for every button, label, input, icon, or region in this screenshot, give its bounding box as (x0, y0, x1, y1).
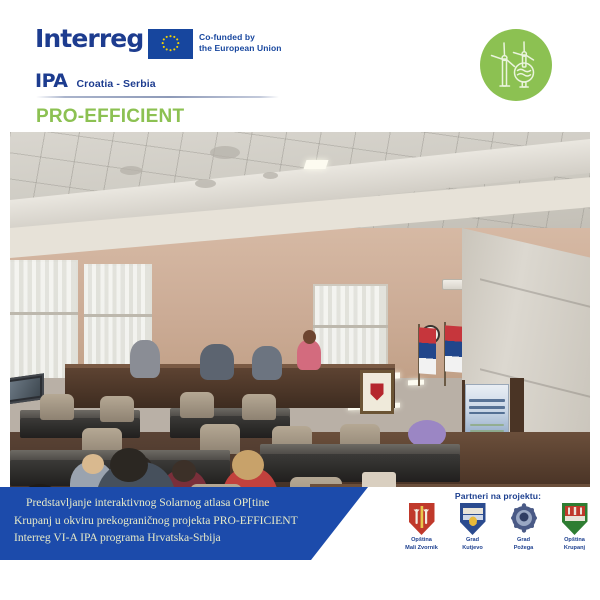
header: Interreg Co-funded by the European Union (0, 0, 600, 132)
eu-funding-line2: the European Union (199, 43, 282, 54)
attendee (252, 346, 282, 380)
serbian-flag-icon (445, 325, 462, 372)
attendee-head (232, 450, 264, 480)
wall-tv-monitor (10, 373, 44, 405)
attendee (200, 344, 234, 380)
attendee-head (172, 460, 196, 482)
ceiling-downlight (263, 172, 278, 179)
speaker-head (303, 330, 316, 344)
ipa-word: IPA (35, 70, 67, 92)
crest-detail (409, 503, 435, 535)
partner-label: Opština Krupanj (552, 537, 598, 552)
partner-logo-row: Opština Mali Zvornik Grad Kutjevo (396, 503, 600, 552)
eu-flag-icon (148, 29, 193, 59)
crest-detail (460, 503, 486, 535)
header-divider (36, 96, 279, 98)
ipa-programme-name: Croatia - Serbia (76, 78, 155, 90)
coat-of-arms-kutjevo-icon (460, 503, 486, 535)
attendee-head (82, 454, 104, 474)
ceiling-downlight (195, 179, 216, 188)
serbian-coat-of-arms-icon (371, 384, 384, 401)
partners-section: Partneri na projektu: (396, 487, 600, 567)
eu-stars-icon (148, 29, 193, 59)
window-transom (84, 314, 152, 317)
desk (260, 454, 460, 482)
event-title-text: Predstavljanje interaktivnog Solarnog at… (14, 494, 364, 547)
speaker-person (297, 340, 321, 370)
window-transom (313, 325, 388, 328)
conference-hall-photo (10, 132, 590, 487)
interreg-logo-text: Interreg (35, 26, 143, 51)
event-title-line3: Interreg VI-A IPA programa Hrvatska-Srbi… (14, 529, 364, 547)
partner-label: Grad Kutjevo (450, 537, 496, 552)
footer: Predstavljanje interaktivnog Solarnog at… (0, 487, 600, 600)
eu-funding-text: Co-funded by the European Union (199, 32, 282, 55)
chair (242, 394, 276, 420)
event-title-line2: Krupanj u okviru prekograničnog projekta… (14, 512, 364, 530)
ceiling-light-panel (304, 160, 329, 169)
partners-title: Partneri na projektu: (396, 491, 600, 501)
event-title-banner: Predstavljanje interaktivnog Solarnog at… (0, 487, 405, 560)
partner-kutjevo: Grad Kutjevo (450, 503, 496, 552)
partner-label: Opština Mali Zvornik (399, 537, 445, 552)
wind-turbine-glyph (480, 29, 552, 101)
crest-detail (562, 503, 588, 535)
coat-of-arms-pozega-icon (511, 503, 537, 535)
window-curtain (315, 286, 386, 374)
attendee-head (110, 448, 148, 482)
serbian-flag-icon (419, 327, 436, 374)
ceiling-downlight (210, 146, 240, 159)
partner-label: Grad Požega (501, 537, 547, 552)
wall-light-strip (408, 380, 424, 386)
interreg-logo: Interreg (35, 26, 143, 51)
page-title: PRO-EFFICIENT (36, 106, 184, 128)
partner-krupanj: Opština Krupanj (552, 503, 598, 552)
attendee (130, 340, 160, 378)
handbag (362, 472, 396, 487)
window-transom (10, 312, 78, 315)
coat-of-arms-krupanj-icon (562, 503, 588, 535)
wind-turbine-icon (480, 29, 552, 101)
chair (100, 396, 134, 422)
window-curtain (10, 260, 78, 378)
partner-pozega: Grad Požega (501, 503, 547, 552)
coat-of-arms-display (360, 370, 394, 414)
chair (180, 392, 214, 418)
eu-funding-line1: Co-funded by (199, 32, 282, 43)
coat-of-arms-mali-zvornik-icon (409, 503, 435, 535)
crest-detail (511, 503, 537, 535)
event-title-line1: Predstavljanje interaktivnog Solarnog at… (14, 494, 364, 512)
ceiling-downlight (120, 166, 142, 175)
ipa-programme-row: IPA Croatia - Serbia (35, 70, 156, 92)
chair (40, 394, 74, 420)
partner-mali-zvornik: Opština Mali Zvornik (399, 503, 445, 552)
